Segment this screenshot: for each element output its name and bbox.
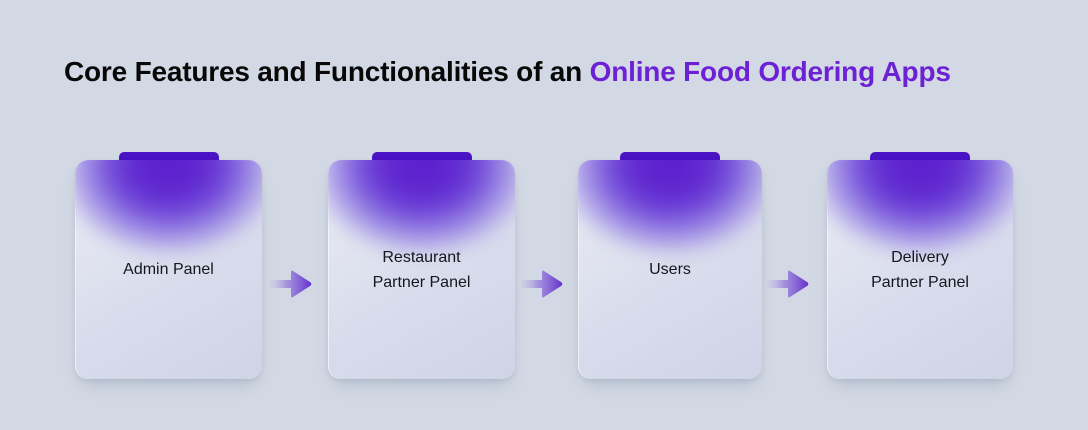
card-label: Delivery Partner Panel	[827, 160, 1013, 379]
flow-card-users[interactable]: Users	[578, 150, 762, 390]
card-surface: Delivery Partner Panel	[827, 160, 1013, 379]
flow-card-restaurant-partner-panel[interactable]: Restaurant Partner Panel	[328, 150, 515, 390]
arrow-admin-to-restaurant-icon	[270, 269, 312, 299]
card-label: Restaurant Partner Panel	[328, 160, 515, 379]
card-label: Admin Panel	[75, 160, 262, 379]
page-title-plain: Core Features and Functionalities of an	[64, 56, 590, 87]
page-title-accent: Online Food Ordering Apps	[590, 56, 951, 87]
card-surface: Restaurant Partner Panel	[328, 160, 515, 379]
arrow-users-to-delivery-icon	[767, 269, 809, 299]
card-surface: Users	[578, 160, 762, 379]
feature-flow-diagram: Admin PanelRestaurant Partner PanelUsers…	[0, 150, 1088, 390]
card-surface: Admin Panel	[75, 160, 262, 379]
flow-card-admin-panel[interactable]: Admin Panel	[75, 150, 262, 390]
card-label: Users	[578, 160, 762, 379]
page-title: Core Features and Functionalities of an …	[64, 54, 951, 90]
flow-card-delivery-partner-panel[interactable]: Delivery Partner Panel	[827, 150, 1013, 390]
arrow-restaurant-to-users-icon	[521, 269, 563, 299]
